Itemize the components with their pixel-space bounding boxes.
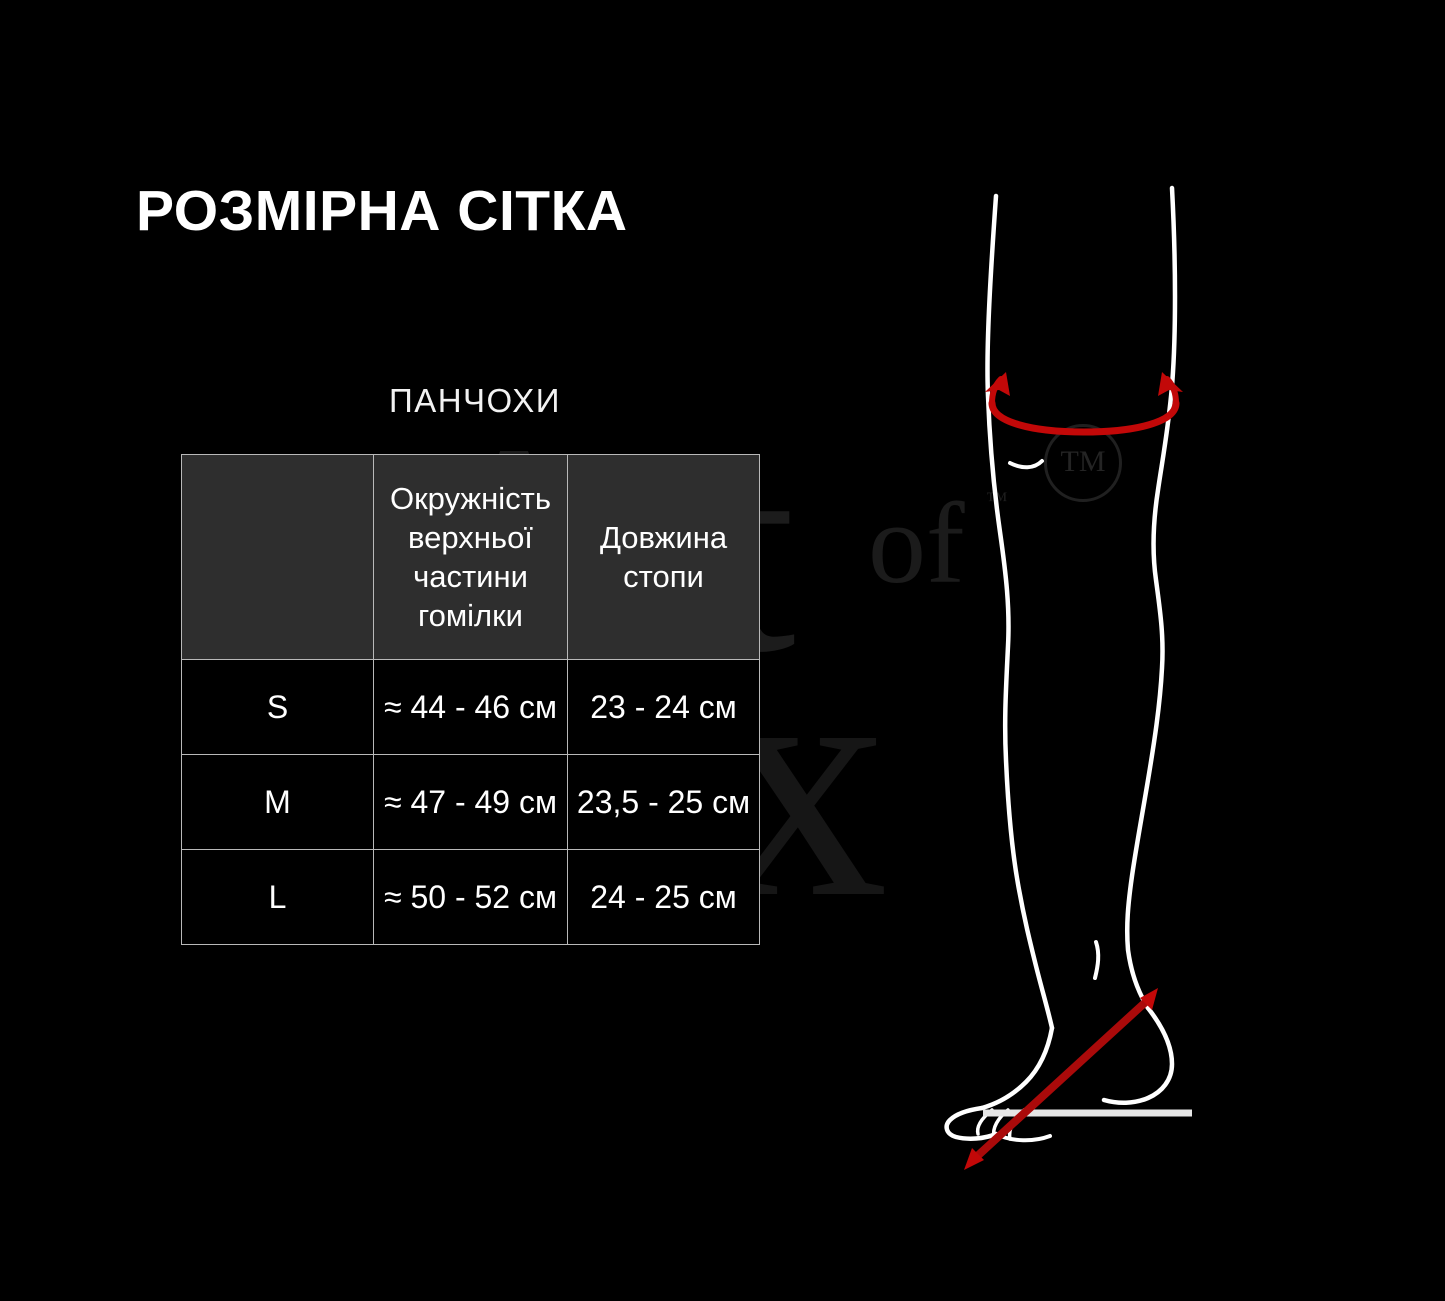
cell-size: L xyxy=(182,850,374,945)
foot-outline-heel xyxy=(1104,1008,1172,1103)
leg-outline-left xyxy=(987,196,1052,1028)
column-header-foot-length: Довжина стопи xyxy=(568,455,760,660)
calf-circumference-arrow xyxy=(985,372,1183,432)
cell-foot-length: 24 - 25 см xyxy=(568,850,760,945)
cell-foot-length: 23 - 24 см xyxy=(568,660,760,755)
cell-size: S xyxy=(182,660,374,755)
table-row: S ≈ 44 - 46 см 23 - 24 см xyxy=(182,660,760,755)
table-header-row: Окружність верхньої частини гомілки Довж… xyxy=(182,455,760,660)
cell-circumference: ≈ 44 - 46 см xyxy=(374,660,568,755)
column-header-size xyxy=(182,455,374,660)
cell-circumference: ≈ 47 - 49 см xyxy=(374,755,568,850)
foot-length-arrow xyxy=(964,988,1158,1170)
leg-measurement-diagram xyxy=(900,160,1320,1180)
leg-outline-right xyxy=(1127,188,1175,1008)
table-header: Окружність верхньої частини гомілки Довж… xyxy=(182,455,760,660)
page-title: РОЗМІРНА СІТКА xyxy=(136,178,628,244)
section-caption: ПАНЧОХИ xyxy=(389,382,561,420)
table-body: S ≈ 44 - 46 см 23 - 24 см M ≈ 47 - 49 см… xyxy=(182,660,760,945)
knee-detail-line xyxy=(1010,461,1042,467)
size-table: Окружність верхньої частини гомілки Довж… xyxy=(181,454,760,945)
cell-foot-length: 23,5 - 25 см xyxy=(568,755,760,850)
cell-circumference: ≈ 50 - 52 см xyxy=(374,850,568,945)
table-row: M ≈ 47 - 49 см 23,5 - 25 см xyxy=(182,755,760,850)
column-header-circumference: Окружність верхньої частини гомілки xyxy=(374,455,568,660)
ankle-detail-line xyxy=(1095,942,1098,978)
table-row: L ≈ 50 - 52 см 24 - 25 см xyxy=(182,850,760,945)
cell-size: M xyxy=(182,755,374,850)
size-chart-page: Art of Sex TM ™ РОЗМІРНА СІТКА ПАНЧОХИ О… xyxy=(0,0,1445,1301)
